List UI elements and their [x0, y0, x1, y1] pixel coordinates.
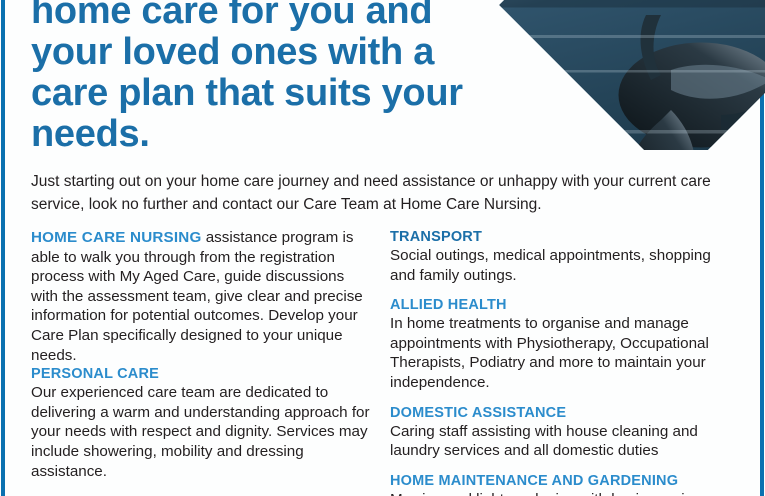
pelican-photo-artwork: [499, 0, 765, 150]
service-block-domestic-assistance: DOMESTIC ASSISTANCE Caring staff assisti…: [390, 404, 732, 461]
service-block-personal-care: PERSONAL CARE Our experienced care team …: [31, 365, 373, 481]
service-body-transport: Social outings, medical appointments, sh…: [390, 246, 732, 285]
service-block-home-maintenance-gardening: HOME MAINTENANCE AND GARDENING Mowing an…: [390, 472, 732, 496]
hero-diamond-photo-frame: [499, 0, 765, 150]
service-heading-personal-care: PERSONAL CARE: [31, 365, 373, 383]
brochure-page: Quality, personalised home care for you …: [0, 0, 765, 496]
intro-paragraph: Just starting out on your home care jour…: [31, 170, 721, 216]
service-body-home-care-nursing: assistance program is able to walk you t…: [31, 229, 363, 364]
service-block-allied-health: ALLIED HEALTH In home treatments to orga…: [390, 296, 732, 392]
pelican-reflection-photo: [499, 0, 765, 150]
right-column: TRANSPORT Social outings, medical appoin…: [390, 228, 732, 496]
service-body-personal-care: Our experienced care team are dedicated …: [31, 383, 373, 481]
service-block-transport: TRANSPORT Social outings, medical appoin…: [390, 228, 732, 285]
service-heading-allied-health: ALLIED HEALTH: [390, 296, 732, 314]
service-body-home-maintenance-gardening: Mowing and light gardening with basic re…: [390, 490, 732, 496]
service-heading-home-care-nursing: HOME CARE NURSING: [31, 229, 201, 246]
service-heading-home-maintenance-gardening: HOME MAINTENANCE AND GARDENING: [390, 472, 732, 490]
left-column: HOME CARE NURSING assistance program is …: [31, 228, 373, 481]
service-body-allied-health: In home treatments to organise and manag…: [390, 314, 732, 392]
hero-section: Quality, personalised home care for you …: [0, 0, 765, 152]
body-columns: HOME CARE NURSING assistance program is …: [0, 228, 765, 496]
service-heading-transport: TRANSPORT: [390, 228, 732, 246]
service-body-domestic-assistance: Caring staff assisting with house cleani…: [390, 422, 732, 461]
hero-diamond: [499, 0, 765, 150]
service-block-home-care-nursing: HOME CARE NURSING assistance program is …: [31, 228, 373, 365]
page-headline: Quality, personalised home care for you …: [31, 0, 501, 155]
service-heading-domestic-assistance: DOMESTIC ASSISTANCE: [390, 404, 732, 422]
